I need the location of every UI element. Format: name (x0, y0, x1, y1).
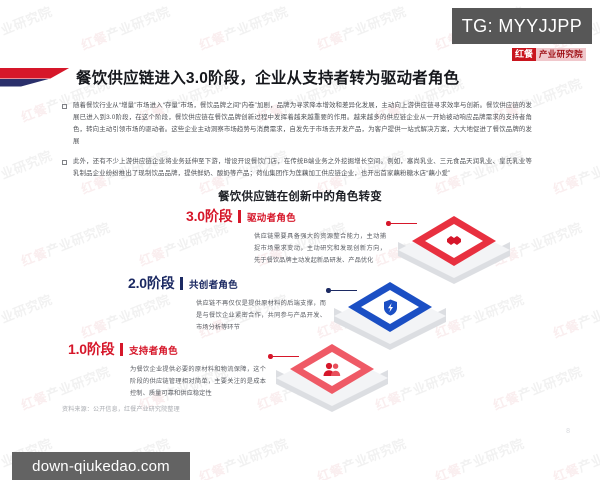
body-text-block: 随着餐饮行业从“增量”市场进入“存量”市场，餐饮品牌之间“内卷”加剧，品牌为寻求… (62, 100, 532, 189)
stage-3-divider (238, 210, 241, 223)
page-title: 餐饮供应链进入3.0阶段，企业从支持者转为驱动者角色 (76, 66, 459, 88)
stage-diamond-3 (412, 216, 496, 266)
stage-diamond-1 (290, 344, 374, 394)
connector-line (273, 356, 299, 357)
stage-1-divider (120, 343, 123, 356)
stage-1-group: 1.0阶段 支持者角色 为餐饮企业提供必要的原材料和物流保障，这个阶段的供应链管… (68, 339, 268, 400)
people-icon (290, 344, 374, 394)
stage-2-divider (180, 277, 183, 290)
connector-stage-3 (386, 221, 417, 226)
watermark-text: 红餐产业研究院 (314, 1, 409, 54)
title-accent-bar (0, 68, 70, 87)
stage-3-group: 3.0阶段 驱动者角色 供应链需要具备强大的资源整合能力，主动捕捉市场需求变动，… (186, 206, 386, 267)
stage-2-group: 2.0阶段 共创者角色 供应链不再仅仅是提供原材料的后端支撑，而是与餐饮企业紧密… (128, 273, 326, 334)
watermark-text: 红餐产业研究院 (196, 433, 291, 480)
watermark-text: 红餐产业研究院 (490, 361, 585, 414)
brand-logo: 红餐 产业研究院 (512, 48, 586, 61)
slide-page: 红餐产业研究院红餐产业研究院红餐产业研究院红餐产业研究院红餐产业研究院红餐产业研… (0, 0, 600, 480)
title-accent-bar-navy (0, 79, 70, 87)
watermark-text: 红餐产业研究院 (196, 1, 291, 54)
watermark-text: 红餐产业研究院 (18, 217, 113, 270)
title-accent-bar-red (0, 68, 70, 79)
connector-line (391, 223, 417, 224)
bullet-item: 此外，还有不少上游供应链企业将业务延伸至下游，增设开设餐饮门店，在传统B端业务之… (62, 156, 532, 180)
site-watermark-badge: down-qiukedao.com (12, 452, 190, 480)
stage-diamond-2 (348, 282, 432, 332)
watermark-text: 红餐产业研究院 (432, 433, 527, 480)
stage-1-role: 支持者角色 (129, 343, 178, 357)
source-note: 资料来源：公开信息，红餐产业研究院整理 (62, 404, 180, 413)
bullet-item: 随着餐饮行业从“增量”市场进入“存量”市场，餐饮品牌之间“内卷”加剧，品牌为寻求… (62, 100, 532, 147)
stage-3-description: 供应链需要具备强大的资源整合能力，主动捕捉市场需求变动，主动研究和发现创新方向，… (254, 231, 386, 267)
watermark-text: 红餐产业研究院 (0, 289, 55, 342)
bullet-square-icon (62, 160, 67, 165)
stage-3-role: 驱动者角色 (247, 210, 296, 224)
watermark-text: 红餐产业研究院 (78, 1, 173, 54)
connector-stage-2 (326, 288, 357, 293)
watermark-text: 红餐产业研究院 (0, 1, 55, 54)
stage-3-heading: 3.0阶段 驱动者角色 (186, 206, 386, 226)
bullet-text: 此外，还有不少上游供应链企业将业务延伸至下游，增设开设餐饮门店，在传统B端业务之… (73, 156, 532, 180)
connector-stage-1 (268, 354, 299, 359)
chart-title: 餐饮供应链在创新中的角色转变 (0, 188, 600, 204)
bullet-square-icon (62, 104, 67, 109)
stage-2-description: 供应链不再仅仅是提供原材料的后端支撑，而是与餐饮企业紧密合作，共同参与产品开发、… (196, 298, 326, 334)
brand-logo-mark: 红餐 (512, 48, 536, 61)
connector-line (331, 290, 357, 291)
title-row: 餐饮供应链进入3.0阶段，企业从支持者转为驱动者角色 (0, 62, 600, 92)
tg-overlay-badge: TG: MYYJJPP (452, 8, 592, 44)
shield-bolt-icon (348, 282, 432, 332)
watermark-text: 红餐产业研究院 (314, 433, 409, 480)
stage-2-heading: 2.0阶段 共创者角色 (128, 273, 326, 293)
watermark-text: 红餐产业研究院 (550, 433, 600, 480)
page-number: 8 (566, 428, 570, 435)
watermark-text: 红餐产业研究院 (550, 289, 600, 342)
stage-2-number: 2.0阶段 (128, 273, 174, 293)
handshake-icon (412, 216, 496, 266)
brand-logo-text: 产业研究院 (536, 48, 586, 61)
stage-1-number: 1.0阶段 (68, 339, 114, 359)
stage-1-description: 为餐饮企业提供必要的原材料和物流保障，这个阶段的供应链管理相对简单，主要关注的是… (130, 364, 266, 400)
stage-2-role: 共创者角色 (189, 277, 238, 291)
stage-3-number: 3.0阶段 (186, 206, 232, 226)
bullet-text: 随着餐饮行业从“增量”市场进入“存量”市场，餐饮品牌之间“内卷”加剧，品牌为寻求… (73, 100, 532, 147)
stage-1-heading: 1.0阶段 支持者角色 (68, 339, 268, 359)
